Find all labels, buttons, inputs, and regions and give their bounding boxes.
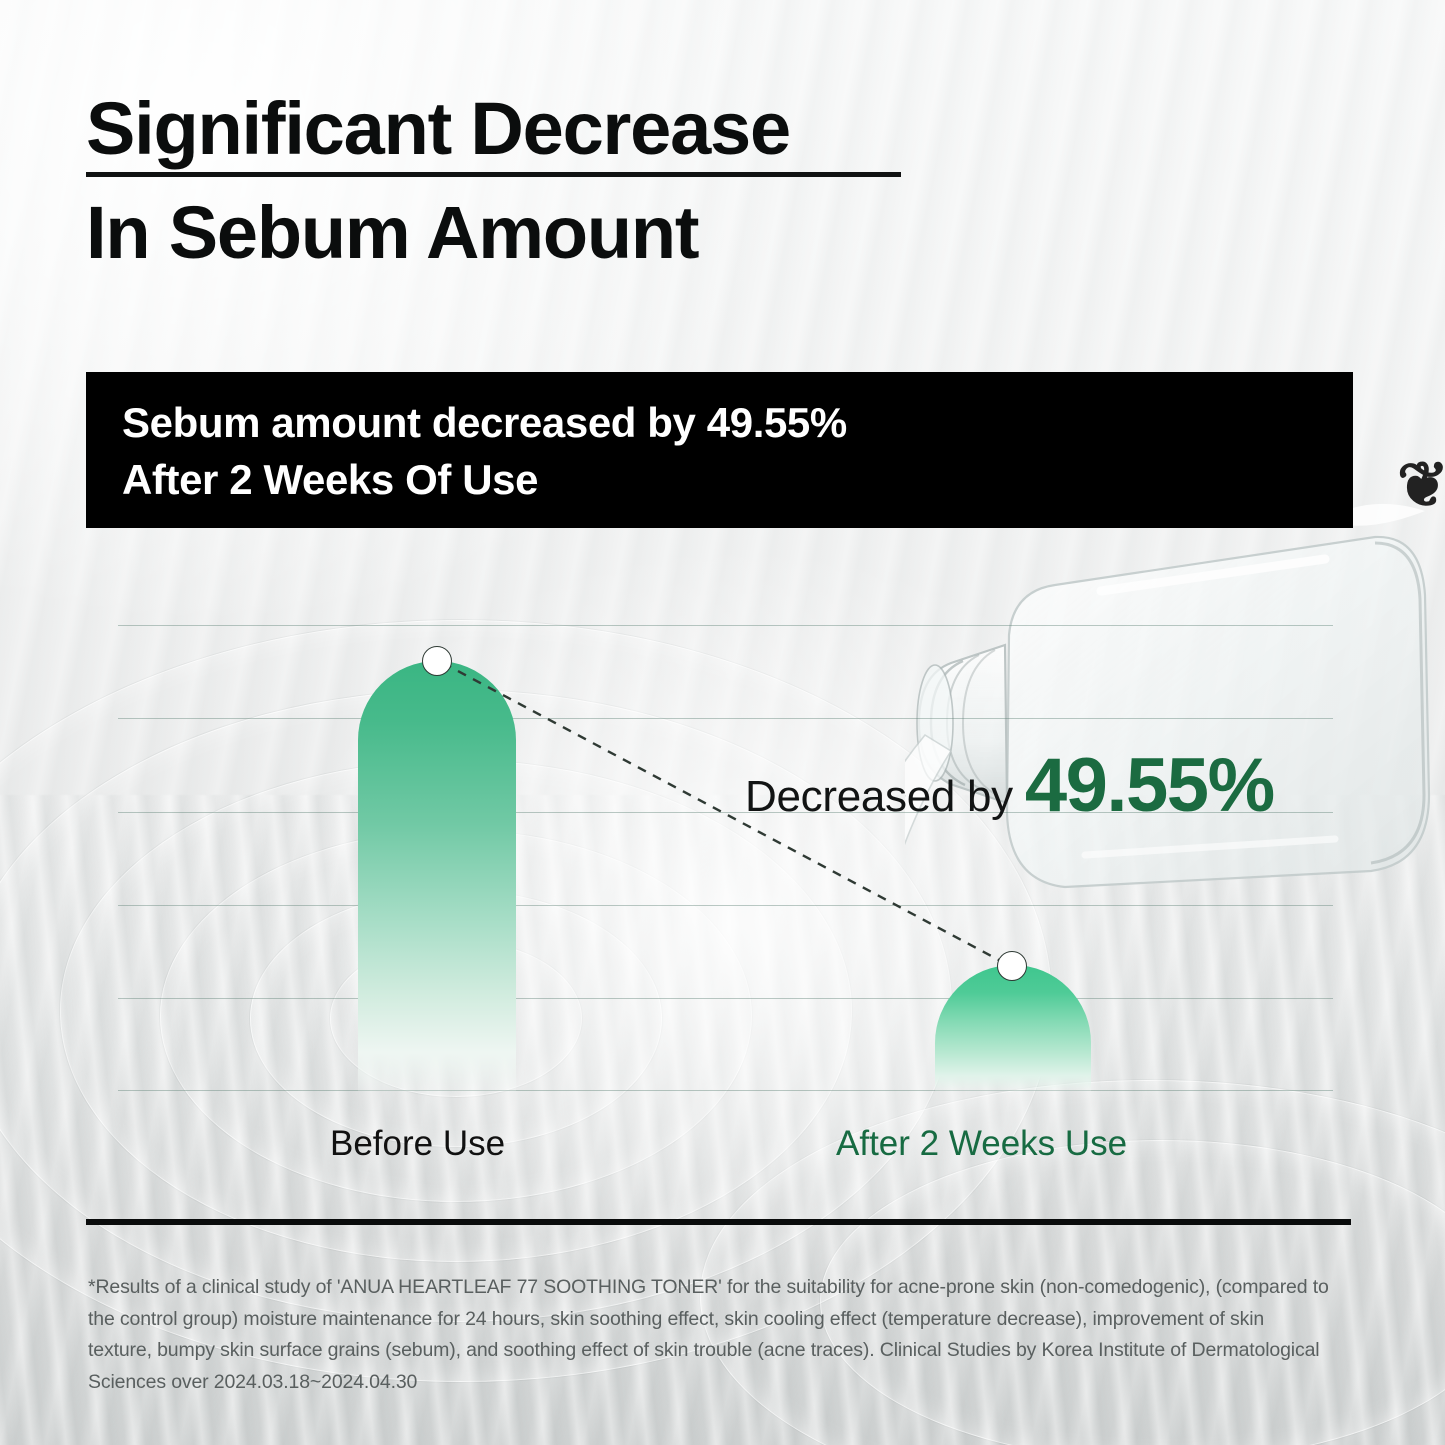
callout-value: 49.55%: [1025, 742, 1274, 829]
infographic-canvas: Significant Decrease In Sebum Amount Seb…: [0, 0, 1445, 1445]
highlight-banner: Sebum amount decreased by 49.55% After 2…: [86, 372, 1353, 528]
page-title-line2: In Sebum Amount: [86, 196, 698, 270]
x-axis-label-before-use: Before Use: [330, 1124, 505, 1164]
data-point-marker-before: [422, 646, 452, 676]
x-axis-label-after-use: After 2 Weeks Use: [836, 1124, 1127, 1164]
banner-line-2: After 2 Weeks Of Use: [122, 456, 538, 504]
trend-connector: [118, 600, 1333, 1100]
footer-divider: [86, 1219, 1351, 1225]
footnote-text: *Results of a clinical study of 'ANUA HE…: [88, 1272, 1333, 1398]
banner-line-1: Sebum amount decreased by 49.55%: [122, 399, 847, 447]
brand-watermark-icon: ❦: [1397, 448, 1445, 522]
data-point-marker-after: [997, 951, 1027, 981]
title-underline: [86, 172, 901, 177]
callout-prefix: Decreased by: [745, 772, 1013, 822]
decrease-callout: Decreased by 49.55%: [745, 742, 1274, 829]
sebum-bar-chart: [118, 600, 1333, 1100]
page-title-line1: Significant Decrease: [86, 92, 790, 166]
